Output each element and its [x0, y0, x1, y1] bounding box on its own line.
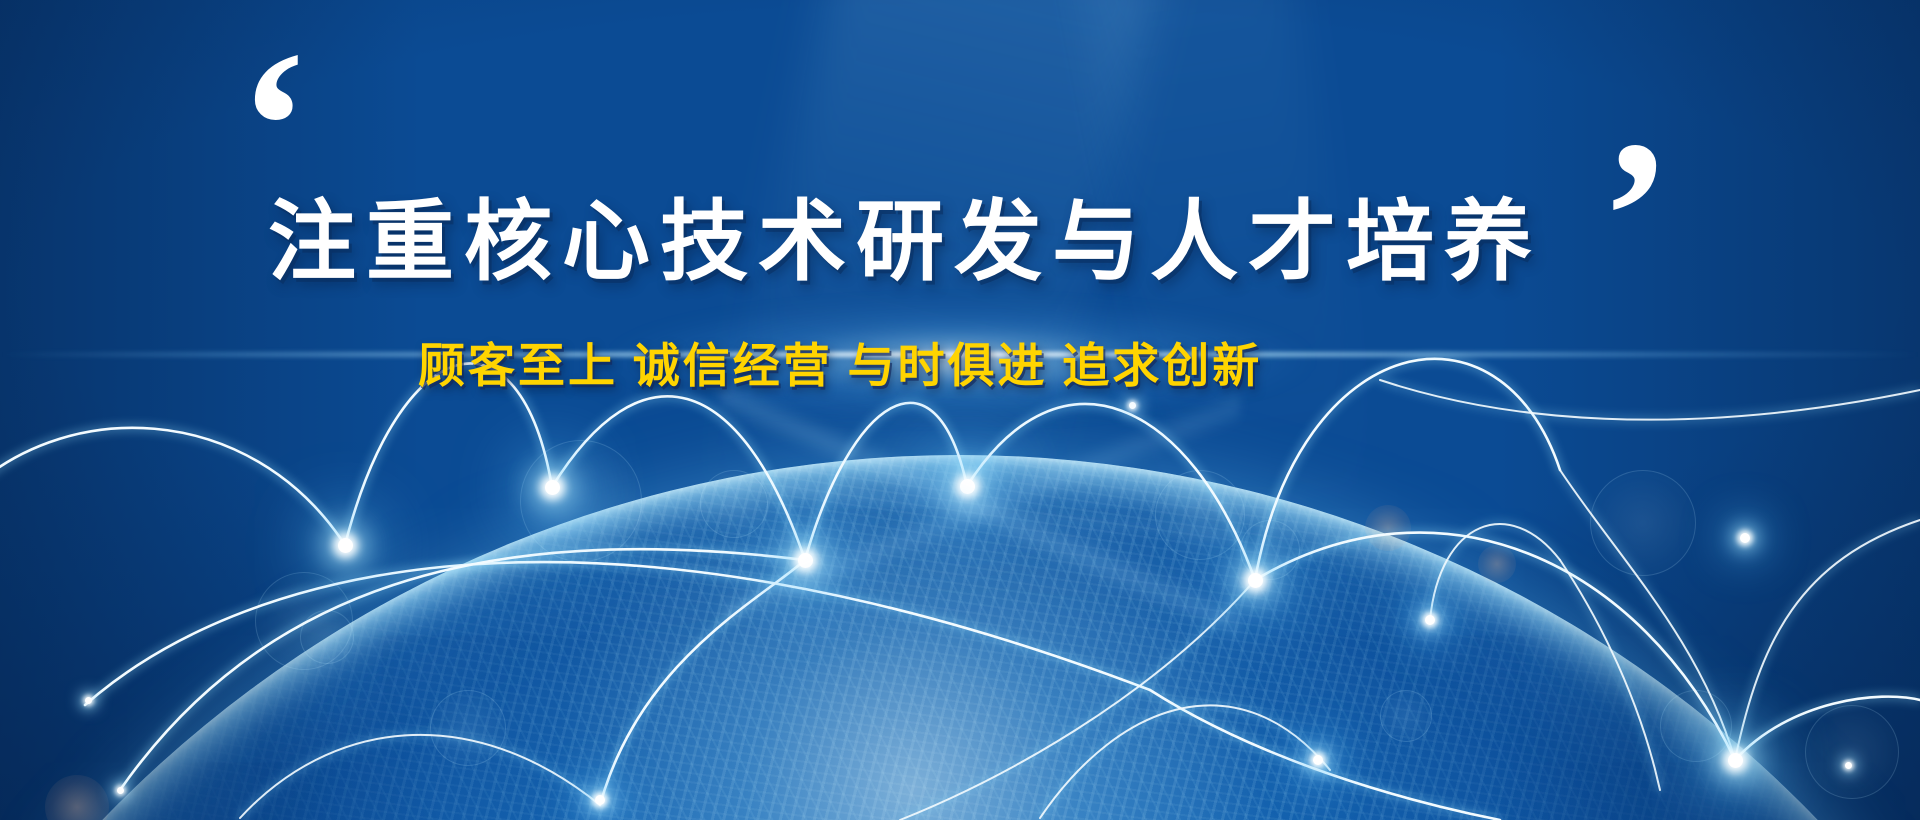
- banner-headline: 注重核心技术研发与人才培养: [268, 171, 1542, 298]
- bokeh-ring: [1660, 690, 1732, 762]
- network-node: [1845, 762, 1852, 769]
- network-node: [1425, 615, 1435, 625]
- bokeh-ring: [520, 440, 642, 562]
- network-node: [1728, 753, 1743, 768]
- banner-copy: ‘ ’ 注重核心技术研发与人才培养 顾客至上 诚信经营 与时俱进 追求创新: [0, 0, 1920, 360]
- network-node: [338, 538, 353, 553]
- lens-flare-dot: [1365, 505, 1411, 551]
- network-node: [117, 787, 124, 794]
- lens-flare-dot: [1478, 545, 1516, 583]
- network-node: [1740, 533, 1750, 543]
- network-node: [1313, 755, 1323, 765]
- network-node: [595, 795, 605, 805]
- bokeh-ring: [300, 610, 354, 664]
- network-node: [1248, 573, 1263, 588]
- promo-banner: ‘ ’ 注重核心技术研发与人才培养 顾客至上 诚信经营 与时俱进 追求创新: [0, 0, 1920, 820]
- bokeh-ring: [1380, 690, 1432, 742]
- network-node: [85, 697, 92, 704]
- bokeh-ring: [1590, 470, 1696, 576]
- bokeh-ring: [430, 690, 506, 766]
- bokeh-ring: [1805, 705, 1899, 799]
- network-node: [545, 480, 560, 495]
- banner-subheadline: 顾客至上 诚信经营 与时俱进 追求创新: [418, 327, 1262, 396]
- bokeh-ring: [1240, 520, 1300, 580]
- quote-close-mark: ’: [1600, 108, 1672, 323]
